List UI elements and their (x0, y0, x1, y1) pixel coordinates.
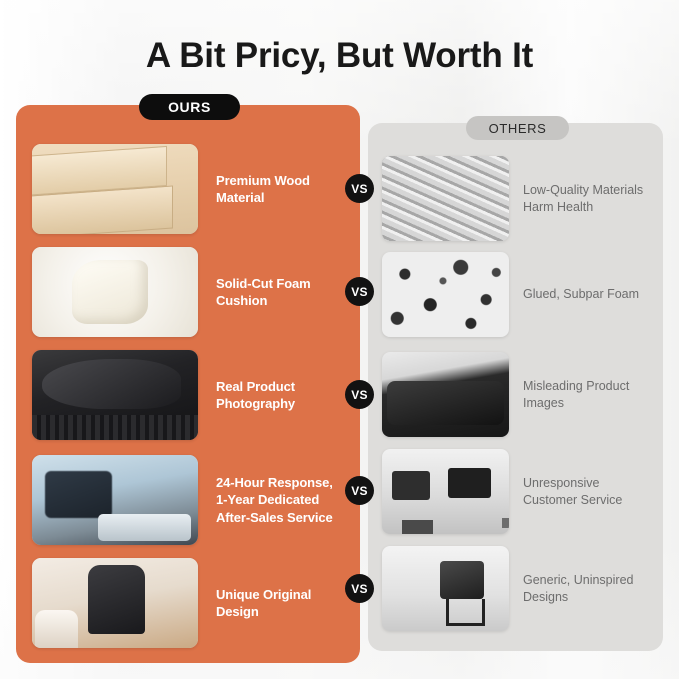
ours-row-3: Real Product Photography (32, 350, 344, 440)
vs-badge-3: VS (345, 380, 374, 409)
ours-row-5: Unique Original Design (32, 558, 344, 648)
vs-badge-5: VS (345, 574, 374, 603)
generic-chairs-photo (382, 546, 509, 631)
others-row-2: Glued, Subpar Foam (382, 252, 648, 337)
others-item-label-4: Unresponsive Customer Service (523, 449, 648, 534)
glued-foam-photo (382, 252, 509, 337)
ours-item-label-5: Unique Original Design (216, 558, 346, 648)
others-badge: OTHERS (466, 116, 569, 140)
ours-row-4: 24-Hour Response, 1-Year Dedicated After… (32, 455, 344, 545)
ours-item-label-4: 24-Hour Response, 1-Year Dedicated After… (216, 455, 346, 545)
ours-item-label-3: Real Product Photography (216, 350, 346, 440)
ours-row-2: Solid-Cut Foam Cushion (32, 247, 344, 337)
scrap-wood-photo (382, 156, 509, 241)
others-item-label-5: Generic, Uninspired Designs (523, 546, 648, 631)
others-row-1: Low-Quality Materials Harm Health (382, 156, 648, 241)
others-item-label-3: Misleading Product Images (523, 352, 648, 437)
dark-cushion-photo (382, 352, 509, 437)
page-title: A Bit Pricy, But Worth It (0, 36, 679, 76)
ours-badge: OURS (139, 94, 240, 120)
comparison-infographic: A Bit Pricy, But Worth It OURS Premium W… (0, 0, 679, 679)
leather-seat-photo (32, 350, 198, 440)
others-item-label-2: Glued, Subpar Foam (523, 252, 648, 337)
customer-support-photo (32, 455, 198, 545)
office-chair-room-photo (32, 558, 198, 648)
ours-item-label-2: Solid-Cut Foam Cushion (216, 247, 346, 337)
others-row-5: Generic, Uninspired Designs (382, 546, 648, 631)
vs-badge-4: VS (345, 476, 374, 505)
foam-cushion-photo (32, 247, 198, 337)
empty-office-desks-photo (382, 449, 509, 534)
ours-row-1: Premium Wood Material (32, 144, 344, 234)
ours-item-label-1: Premium Wood Material (216, 144, 346, 234)
vs-badge-2: VS (345, 277, 374, 306)
others-row-4: Unresponsive Customer Service (382, 449, 648, 534)
vs-badge-1: VS (345, 174, 374, 203)
wood-planks-photo (32, 144, 198, 234)
others-row-3: Misleading Product Images (382, 352, 648, 437)
others-item-label-1: Low-Quality Materials Harm Health (523, 156, 648, 241)
